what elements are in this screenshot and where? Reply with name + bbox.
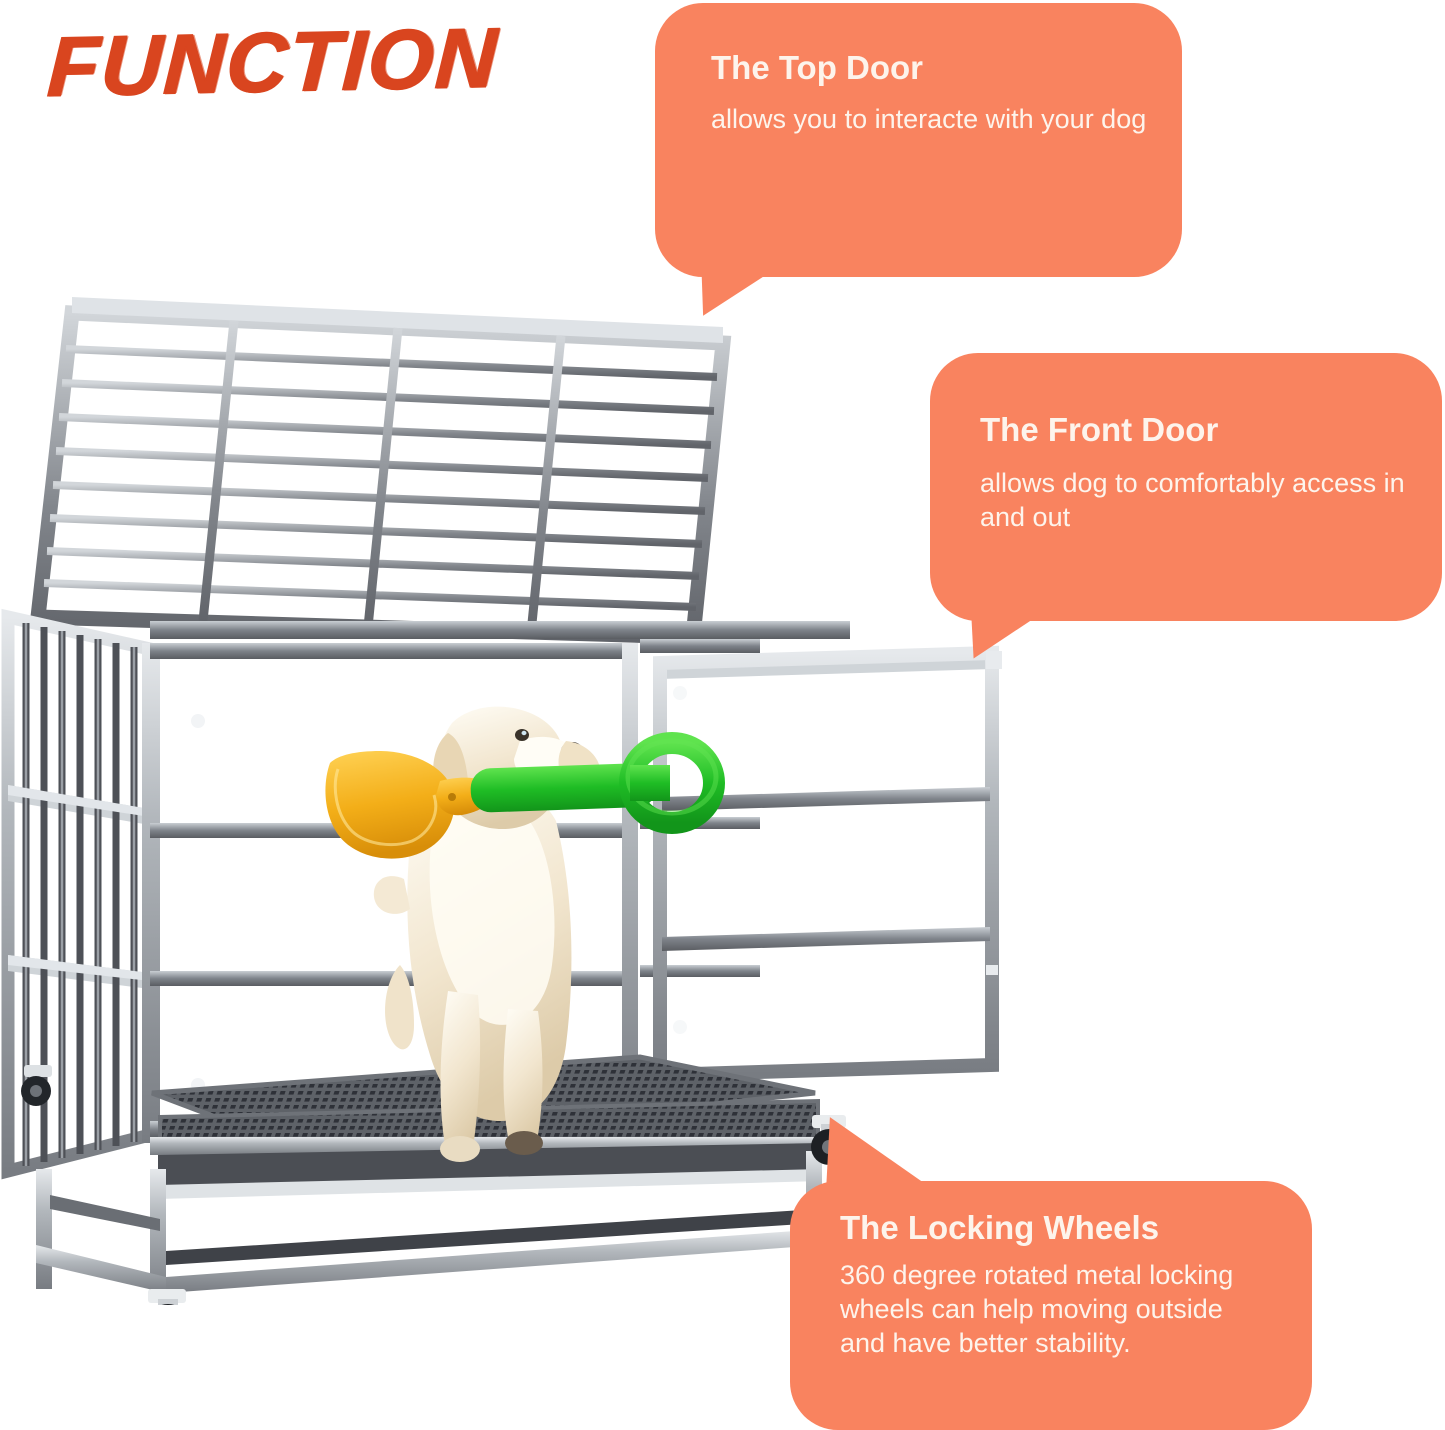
callout-locking-wheels-body: 360 degree rotated metal locking wheels … xyxy=(840,1259,1270,1360)
locking-caster-wheel-rear-left[interactable] xyxy=(21,1065,52,1106)
base-frame xyxy=(36,1137,822,1299)
door-latch-pin-lower[interactable] xyxy=(673,1020,687,1034)
page-title: FUNCTION xyxy=(45,9,500,115)
callout-locking-wheels: The Locking Wheels 360 degree rotated me… xyxy=(790,1181,1312,1430)
callout-locking-wheels-title: The Locking Wheels xyxy=(840,1209,1312,1247)
infographic-page: FUNCTION xyxy=(0,0,1445,1430)
corner-post xyxy=(142,643,160,1143)
door-latch-pin[interactable] xyxy=(673,686,687,700)
callout-front-door-body: allows dog to comfortably access in and … xyxy=(980,467,1420,535)
callout-front-door-title: The Front Door xyxy=(980,411,1442,449)
front-door-panel[interactable] xyxy=(660,651,1002,1075)
locking-caster-wheel-front-left[interactable] xyxy=(147,1289,189,1305)
top-door-panel[interactable] xyxy=(38,297,723,637)
callout-top-door-body: allows you to interacte with your dog xyxy=(711,103,1151,137)
callout-front-door: The Front Door allows dog to comfortably… xyxy=(930,353,1442,621)
callout-top-door: The Top Door allows you to interacte wit… xyxy=(655,3,1182,277)
callout-top-door-title: The Top Door xyxy=(711,49,1182,87)
